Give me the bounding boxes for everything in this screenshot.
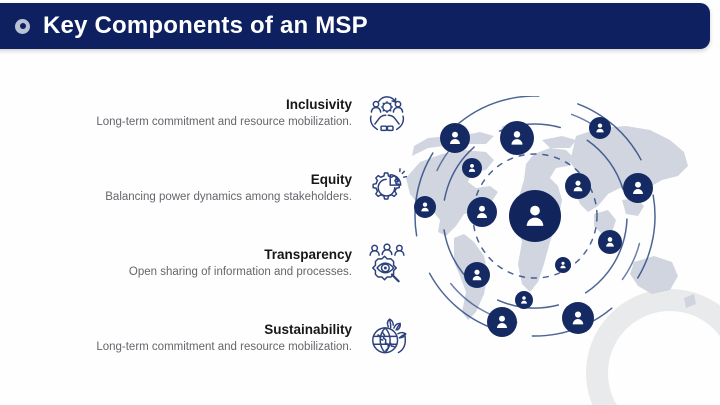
component-text-block: Sustainability Long-term commitment and … bbox=[96, 321, 364, 355]
component-description: Open sharing of information and processe… bbox=[129, 265, 352, 280]
component-text-block: Equity Balancing power dynamics among st… bbox=[105, 171, 364, 205]
component-item-sustainability[interactable]: Sustainability Long-term commitment and … bbox=[0, 307, 410, 369]
network-node bbox=[565, 173, 591, 199]
network-node bbox=[589, 117, 611, 139]
network-node bbox=[464, 262, 490, 288]
hands-holding-people-gear-icon bbox=[364, 90, 410, 136]
network-node bbox=[500, 121, 534, 155]
target-dot-icon bbox=[15, 19, 30, 34]
component-description: Long-term commitment and resource mobili… bbox=[96, 340, 352, 355]
network-hub-node bbox=[509, 190, 561, 242]
component-title: Transparency bbox=[129, 246, 352, 263]
network-node bbox=[487, 307, 517, 337]
network-node bbox=[440, 123, 470, 153]
component-item-inclusivity[interactable]: Inclusivity Long-term commitment and res… bbox=[0, 82, 410, 144]
component-item-transparency[interactable]: Transparency Open sharing of information… bbox=[0, 232, 410, 294]
page-title: Key Components of an MSP bbox=[43, 12, 368, 40]
component-item-equity[interactable]: Equity Balancing power dynamics among st… bbox=[0, 157, 410, 219]
gear-pie-chart-dollar-icon bbox=[364, 165, 410, 211]
component-title: Sustainability bbox=[96, 321, 352, 338]
component-description: Long-term commitment and resource mobili… bbox=[96, 115, 352, 130]
network-node bbox=[515, 291, 533, 309]
globe-leaves-icon bbox=[364, 315, 410, 361]
component-description: Balancing power dynamics among stakehold… bbox=[105, 190, 352, 205]
people-magnifier-eye-gear-icon bbox=[364, 240, 410, 286]
network-node bbox=[462, 158, 482, 178]
network-node bbox=[414, 196, 436, 218]
slide-title-bar: Key Components of an MSP bbox=[0, 3, 710, 49]
component-text-block: Transparency Open sharing of information… bbox=[129, 246, 364, 280]
slide-canvas: Key Components of an MSP Inclusivity Lon… bbox=[0, 0, 720, 405]
global-network-illustration bbox=[398, 96, 698, 364]
network-node bbox=[555, 257, 571, 273]
network-node bbox=[562, 302, 594, 334]
network-node bbox=[598, 230, 622, 254]
network-node bbox=[623, 173, 653, 203]
component-text-block: Inclusivity Long-term commitment and res… bbox=[96, 96, 364, 130]
component-title: Equity bbox=[105, 171, 352, 188]
network-node bbox=[467, 197, 497, 227]
component-title: Inclusivity bbox=[96, 96, 352, 113]
components-list: Inclusivity Long-term commitment and res… bbox=[0, 82, 410, 382]
